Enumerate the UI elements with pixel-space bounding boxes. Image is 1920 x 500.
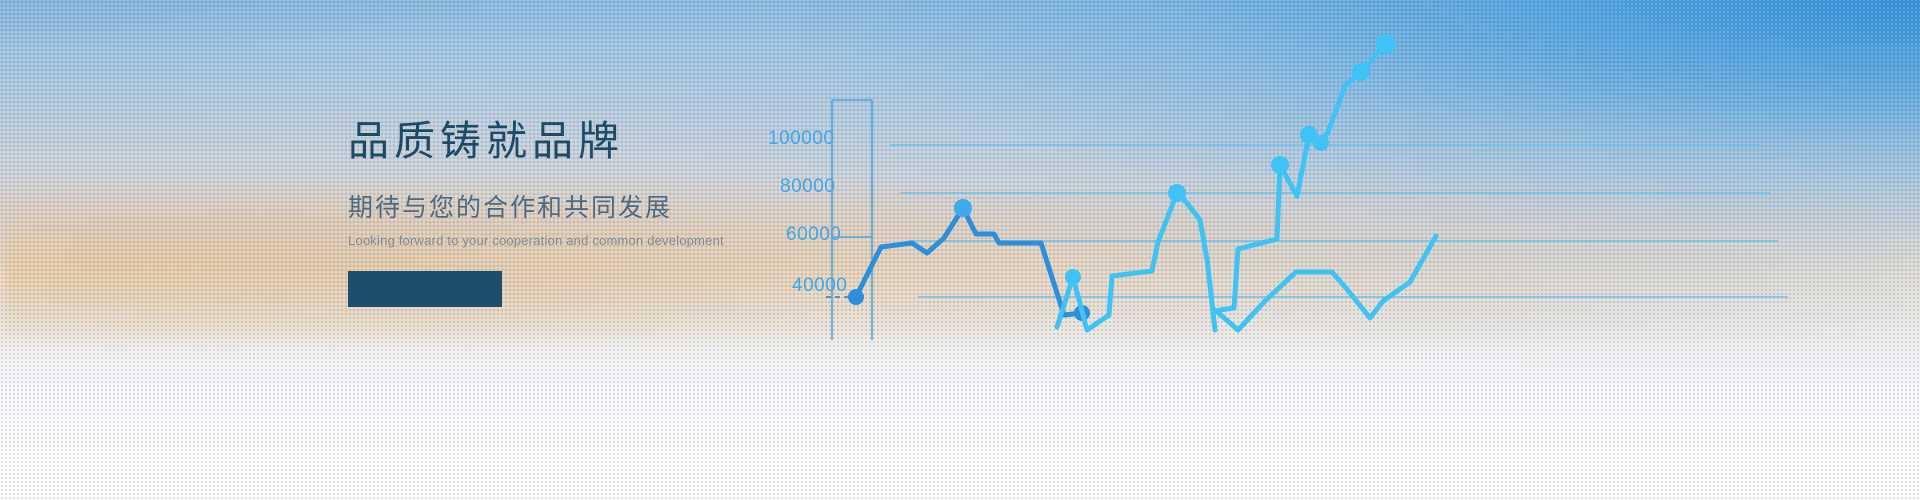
- data-point-marker: [848, 289, 864, 305]
- chart-canvas: 100000 80000 60000 40000: [760, 0, 1920, 500]
- y-tick-60000: 60000: [786, 224, 841, 245]
- data-point-marker: [1065, 269, 1081, 285]
- data-point-marker: [1271, 156, 1289, 174]
- cta-button[interactable]: [348, 271, 502, 307]
- data-point-marker: [1300, 126, 1318, 144]
- data-point-marker: [1168, 184, 1186, 202]
- chart-series-2: [1057, 184, 1215, 330]
- data-point-marker: [1352, 63, 1370, 81]
- chart-gridlines: [890, 145, 1788, 297]
- y-tick-40000: 40000: [792, 275, 847, 296]
- banner-copy-block: 品质铸就品牌 期待与您的合作和共同发展 Looking forward to y…: [348, 118, 768, 307]
- chart-axis-frame: [832, 100, 872, 340]
- y-tick-80000: 80000: [780, 176, 835, 197]
- banner-tagline-english: Looking forward to your cooperation and …: [348, 233, 768, 249]
- page-title: 品质铸就品牌: [348, 118, 768, 165]
- data-point-marker: [954, 199, 972, 217]
- y-tick-100000: 100000: [768, 128, 834, 149]
- chart-y-axis-labels: 100000 80000 60000 40000: [768, 128, 847, 296]
- chart-series-1: [848, 199, 1090, 321]
- banner-subtitle: 期待与您的合作和共同发展: [348, 193, 768, 223]
- chart-series-4: [1215, 236, 1436, 330]
- data-point-marker: [1376, 34, 1396, 54]
- line-chart: 100000 80000 60000 40000: [760, 0, 1920, 500]
- hero-banner: 品质铸就品牌 期待与您的合作和共同发展 Looking forward to y…: [0, 0, 1920, 500]
- chart-series-3: [1220, 34, 1396, 310]
